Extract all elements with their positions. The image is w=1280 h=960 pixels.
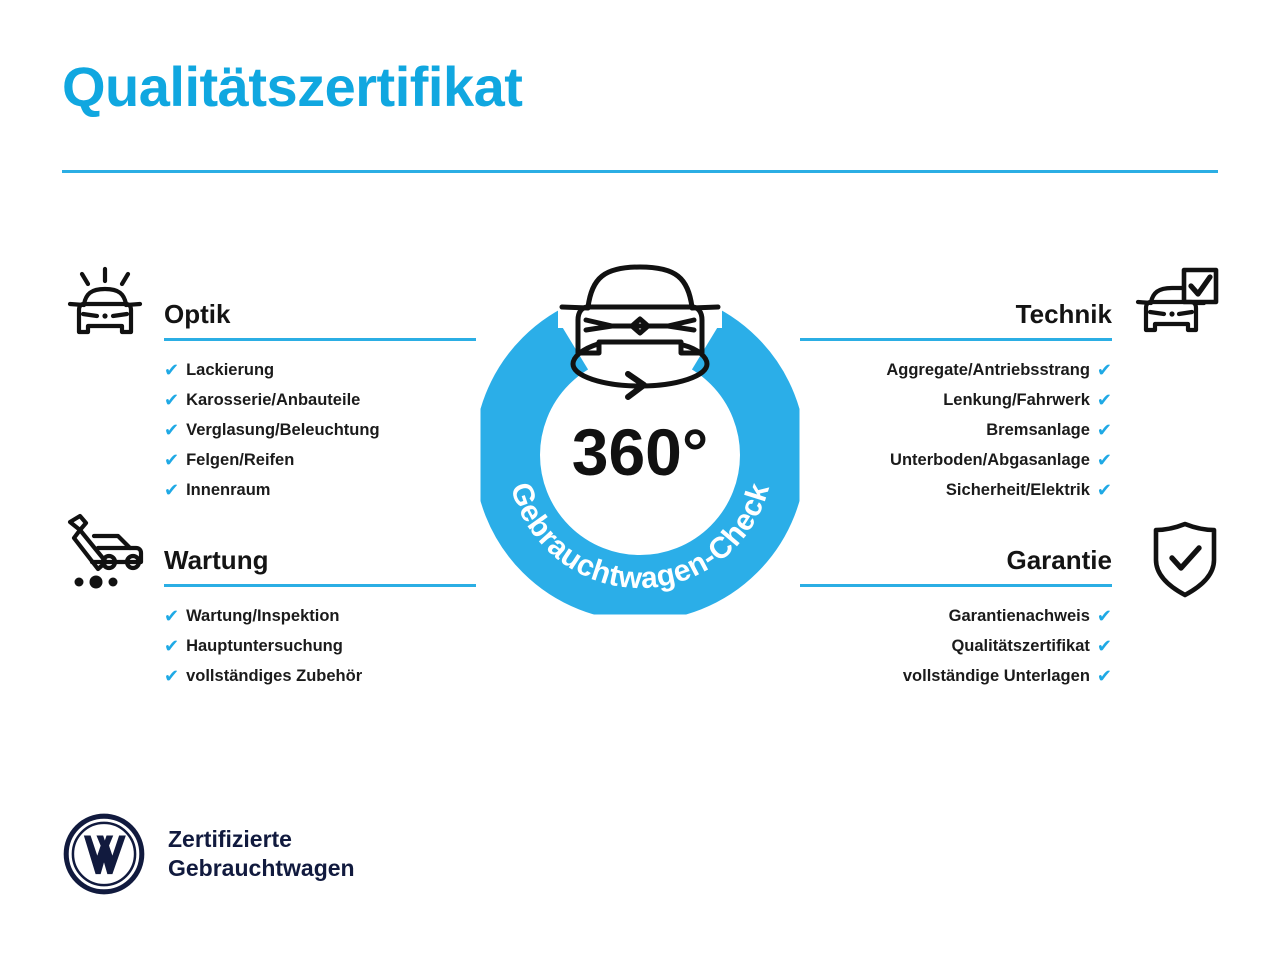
check-icon: ✔: [164, 391, 179, 409]
section-list: Garantienachweis✔ Qualitätszertifikat✔ v…: [800, 601, 1112, 691]
list-item: Garantienachweis✔: [800, 601, 1112, 631]
list-item-label: Unterboden/Abgasanlage: [890, 445, 1090, 475]
section-heading: Technik: [800, 300, 1112, 329]
list-item-label: vollständige Unterlagen: [903, 661, 1090, 691]
section-divider: [800, 584, 1112, 587]
list-item-label: Karosserie/Anbauteile: [186, 385, 360, 415]
check-icon: ✔: [164, 421, 179, 439]
list-item-label: Wartung/Inspektion: [186, 601, 339, 631]
page-title: Qualitätszertifikat: [62, 58, 522, 117]
section-list: ✔Wartung/Inspektion ✔Hauptuntersuchung ✔…: [164, 601, 476, 691]
list-item: ✔Wartung/Inspektion: [164, 601, 476, 631]
section-optik: Optik ✔Lackierung ✔Karosserie/Anbauteile…: [164, 300, 476, 505]
check-icon: ✔: [164, 481, 179, 499]
check-icon: ✔: [1097, 361, 1112, 379]
car-checkbox-icon: [1134, 262, 1220, 348]
check-icon: ✔: [1097, 451, 1112, 469]
wrench-car-icon: [62, 510, 148, 596]
section-list: ✔Lackierung ✔Karosserie/Anbauteile ✔Verg…: [164, 355, 476, 505]
check-icon: ✔: [1097, 391, 1112, 409]
list-item: ✔Verglasung/Beleuchtung: [164, 415, 476, 445]
badge-value: 360°: [572, 415, 709, 489]
list-item-label: Bremsanlage: [986, 415, 1090, 445]
header-divider: [62, 170, 1218, 173]
list-item-label: Hauptuntersuchung: [186, 631, 343, 661]
section-heading: Wartung: [164, 546, 476, 575]
volkswagen-logo: [62, 812, 146, 896]
section-divider: [164, 584, 476, 587]
check-icon: ✔: [164, 607, 179, 625]
check-icon: ✔: [164, 361, 179, 379]
list-item-label: Lackierung: [186, 355, 274, 385]
list-item-label: Sicherheit/Elektrik: [946, 475, 1090, 505]
footer-logo-block: Zertifizierte Gebrauchtwagen: [62, 812, 355, 896]
list-item-label: Garantienachweis: [949, 601, 1090, 631]
list-item-label: Aggregate/Antriebsstrang: [886, 355, 1090, 385]
check-icon: ✔: [164, 637, 179, 655]
section-heading: Optik: [164, 300, 476, 329]
section-wartung: Wartung ✔Wartung/Inspektion ✔Hauptunters…: [164, 546, 476, 691]
list-item: Aggregate/Antriebsstrang✔: [800, 355, 1112, 385]
list-item: ✔Karosserie/Anbauteile: [164, 385, 476, 415]
list-item-label: Felgen/Reifen: [186, 445, 294, 475]
check-icon: ✔: [1097, 481, 1112, 499]
car-front-rotate-icon: [562, 267, 718, 397]
list-item-label: vollständiges Zubehör: [186, 661, 362, 691]
check-icon: ✔: [1097, 421, 1112, 439]
section-list: Aggregate/Antriebsstrang✔ Lenkung/Fahrwe…: [800, 355, 1112, 505]
list-item-label: Innenraum: [186, 475, 270, 505]
section-garantie: Garantie Garantienachweis✔ Qualitätszert…: [800, 546, 1112, 691]
list-item: Lenkung/Fahrwerk✔: [800, 385, 1112, 415]
list-item: ✔vollständiges Zubehör: [164, 661, 476, 691]
section-technik: Technik Aggregate/Antriebsstrang✔ Lenkun…: [800, 300, 1112, 505]
list-item: ✔Lackierung: [164, 355, 476, 385]
list-item: vollständige Unterlagen✔: [800, 661, 1112, 691]
list-item-label: Qualitätszertifikat: [951, 631, 1089, 661]
section-divider: [164, 338, 476, 341]
list-item: ✔Innenraum: [164, 475, 476, 505]
check-icon: ✔: [1097, 667, 1112, 685]
check-icon: ✔: [164, 451, 179, 469]
shield-check-icon: [1142, 516, 1228, 602]
footer-line-2: Gebrauchtwagen: [168, 854, 355, 883]
list-item: ✔Felgen/Reifen: [164, 445, 476, 475]
section-heading: Garantie: [800, 546, 1112, 575]
footer-line-1: Zertifizierte: [168, 825, 355, 854]
list-item: ✔Hauptuntersuchung: [164, 631, 476, 661]
list-item-label: Lenkung/Fahrwerk: [943, 385, 1090, 415]
check-icon: ✔: [1097, 637, 1112, 655]
section-divider: [800, 338, 1112, 341]
list-item: Qualitätszertifikat✔: [800, 631, 1112, 661]
list-item: Unterboden/Abgasanlage✔: [800, 445, 1112, 475]
car-shine-icon: [62, 264, 148, 350]
gebrauchtwagen-check-badge: Gebrauchtwagen-Check 360°: [462, 250, 818, 626]
check-icon: ✔: [1097, 607, 1112, 625]
check-icon: ✔: [164, 667, 179, 685]
list-item: Sicherheit/Elektrik✔: [800, 475, 1112, 505]
list-item: Bremsanlage✔: [800, 415, 1112, 445]
list-item-label: Verglasung/Beleuchtung: [186, 415, 379, 445]
